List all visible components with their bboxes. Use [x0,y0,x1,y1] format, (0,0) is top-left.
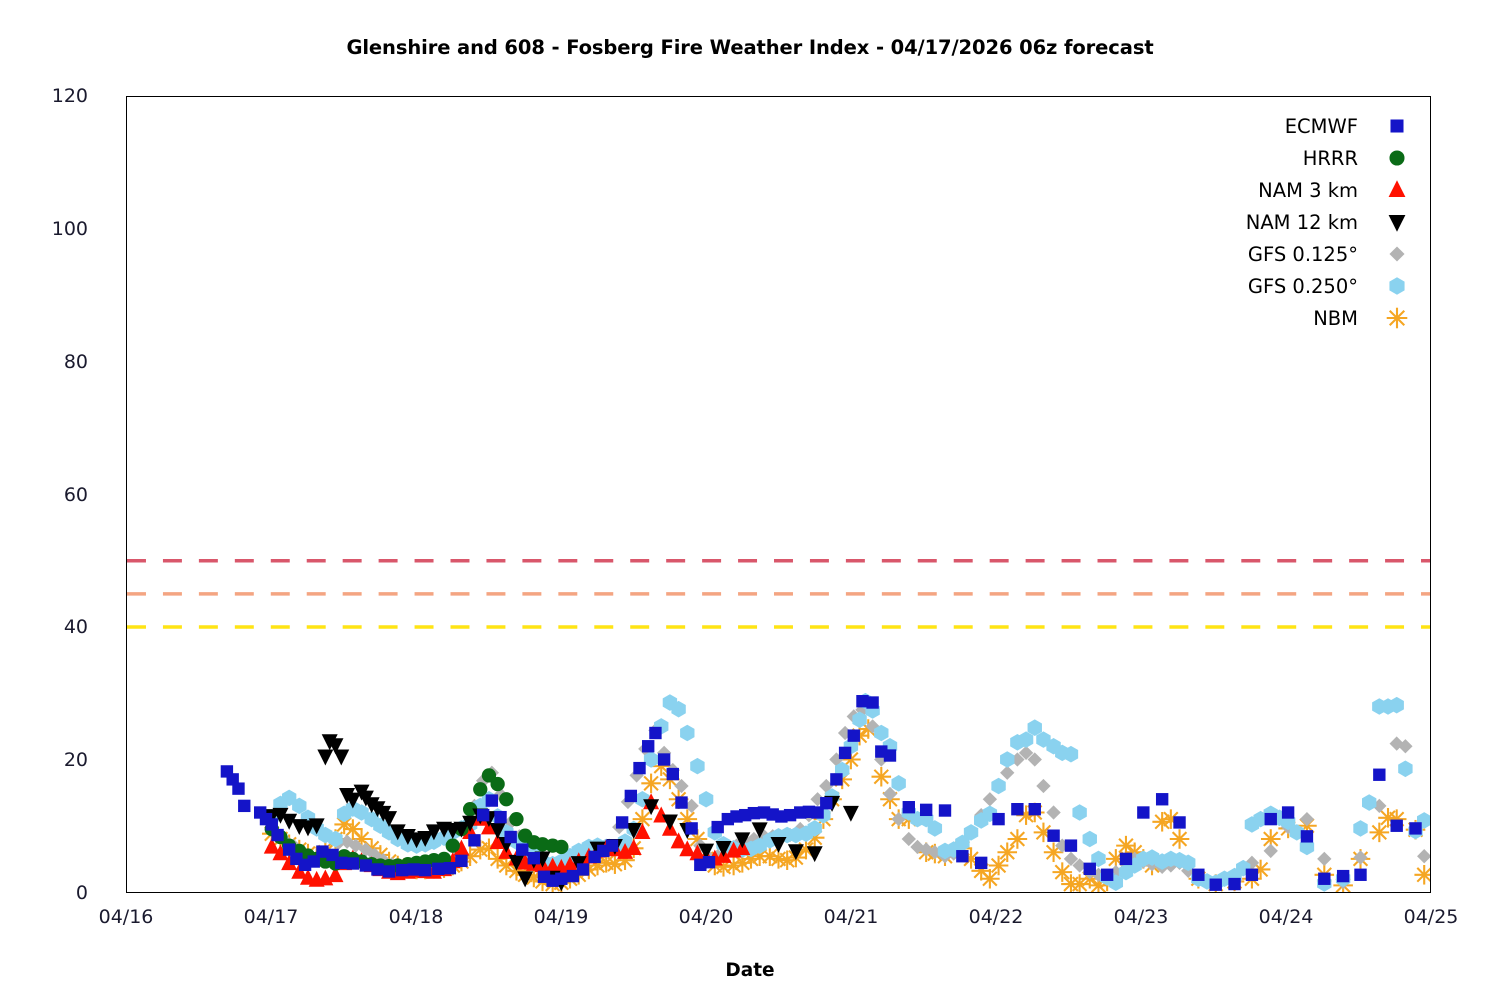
data-point-square [1391,820,1403,832]
y-tick-label: 100 [8,218,88,240]
data-point-square [975,857,987,869]
data-point-square [455,855,467,867]
data-point-hexagon [680,725,694,742]
x-tick-label: 04/17 [244,906,299,928]
x-tick-label: 04/25 [1404,906,1459,928]
data-point-square [1301,830,1313,842]
data-point-square [444,862,456,874]
data-point-diamond [983,792,997,806]
data-point-asterisk [989,856,1009,876]
data-point-square [1137,806,1149,818]
data-point-square [486,794,498,806]
legend-marker-asterisk-icon [1384,306,1410,330]
data-point-square [956,850,968,862]
data-point-circle [499,792,513,806]
data-point-asterisk [872,767,892,787]
data-point-square [1156,793,1168,805]
y-tick-label: 20 [8,749,88,771]
data-point-hexagon [690,758,704,775]
data-point-circle [554,840,568,854]
legend-item-nam-12-km[interactable]: NAM 12 km [1130,206,1410,238]
legend-marker-triangle-down-icon [1384,210,1410,234]
data-point-square [848,729,860,741]
data-point-asterisk [1052,862,1072,882]
legend-marker-hexagon-icon [1384,274,1410,298]
data-point-diamond [1036,779,1050,793]
data-point-square [642,740,654,752]
y-tick-label: 60 [8,484,88,506]
y-tick-label: 40 [8,616,88,638]
legend-label: NAM 12 km [1246,211,1384,234]
data-point-square [419,864,431,876]
data-point-square [1210,879,1222,891]
data-point-square [1246,869,1258,881]
legend-label: HRRR [1303,147,1384,170]
data-point-square [939,804,951,816]
data-point-square [432,863,444,875]
legend-label: ECMWF [1285,115,1384,138]
data-point-square [1228,878,1240,890]
data-point-circle [446,838,460,852]
x-tick-label: 04/20 [679,906,734,928]
data-point-square [347,857,359,869]
data-point-square [839,747,851,759]
data-point-square [266,818,278,830]
data-point-hexagon [991,778,1005,795]
data-point-square [633,762,645,774]
series-legend: ECMWFHRRRNAM 3 kmNAM 12 kmGFS 0.125°GFS … [1130,110,1410,334]
data-point-square [1120,853,1132,865]
data-point-diamond [1389,246,1404,261]
data-point-square [1084,863,1096,875]
data-point-square [1065,839,1077,851]
data-point-square [658,753,670,765]
data-point-asterisk [1414,865,1430,885]
legend-label: NBM [1313,307,1384,330]
data-point-square [232,782,244,794]
x-tick-label: 04/23 [1114,906,1169,928]
legend-item-hrrr[interactable]: HRRR [1130,142,1410,174]
data-point-square [667,768,679,780]
legend-marker-triangle-up-icon [1384,178,1410,202]
data-point-triangle-down [1389,215,1406,232]
data-point-triangle-down [843,806,859,822]
data-point-hexagon [1083,831,1097,848]
legend-label: GFS 0.250° [1248,275,1384,298]
data-point-square [494,811,506,823]
data-point-square [238,800,250,812]
data-point-square [1318,873,1330,885]
data-point-square [1373,769,1385,781]
x-tick-label: 04/19 [534,906,589,928]
legend-label: GFS 0.125° [1248,243,1384,266]
data-point-triangle-down [333,750,349,766]
data-point-asterisk [1008,829,1028,849]
data-point-hexagon [1353,820,1367,837]
data-point-diamond [674,779,688,793]
data-point-square [271,829,283,841]
data-point-square [477,809,489,821]
data-point-asterisk [1170,829,1190,849]
data-point-square [396,864,408,876]
data-point-square [528,852,540,864]
data-point-square [866,696,878,708]
x-tick-label: 04/22 [969,906,1024,928]
data-point-square [1265,813,1277,825]
data-point-square [371,863,383,875]
data-point-asterisk [1370,823,1390,843]
data-point-diamond [1417,849,1430,863]
data-point-square [884,749,896,761]
page-title: Glenshire and 608 - Fosberg Fire Weather… [0,36,1500,59]
fosberg-index-chart-figure: Glenshire and 608 - Fosberg Fire Weather… [0,0,1500,1000]
data-point-circle [490,777,504,791]
data-point-square [1192,869,1204,881]
y-tick-label: 120 [8,85,88,107]
data-point-square [903,801,915,813]
data-point-square [555,873,567,885]
data-point-square [1390,119,1403,132]
data-point-diamond [1264,844,1278,858]
data-point-square [685,822,697,834]
data-point-asterisk [641,774,661,794]
y-tick-label: 0 [8,882,88,904]
data-point-square [1047,830,1059,842]
data-point-square [468,834,480,846]
data-point-circle [473,782,487,796]
legend-item-gfs-0-250[interactable]: GFS 0.250° [1130,270,1410,302]
x-axis-label: Date [0,960,1500,981]
data-point-square [516,843,528,855]
legend-item-nam-3-km[interactable]: NAM 3 km [1130,174,1410,206]
data-point-square [504,831,516,843]
data-point-diamond [1046,805,1060,819]
data-point-hexagon [699,791,713,808]
data-point-square [625,790,637,802]
data-point-square [703,856,715,868]
y-tick-label: 80 [8,351,88,373]
x-tick-label: 04/24 [1259,906,1314,928]
data-point-square [1282,806,1294,818]
data-point-square [606,839,618,851]
data-point-square [1011,803,1023,815]
data-point-diamond [1300,812,1314,826]
data-point-square [616,816,628,828]
data-point-square [1101,869,1113,881]
data-point-hexagon [891,775,905,792]
data-point-square [407,863,419,875]
data-point-square [820,797,832,809]
data-point-square [1173,816,1185,828]
data-point-circle [509,812,523,826]
data-point-square [1354,869,1366,881]
data-point-triangle-down [807,846,823,862]
data-point-hexagon [1362,794,1376,811]
data-point-square [1029,803,1041,815]
data-point-square [992,813,1004,825]
data-point-square [649,727,661,739]
data-point-hexagon [1389,277,1404,294]
legend-item-nbm[interactable]: NBM [1130,302,1410,334]
data-point-asterisk [1387,308,1408,329]
data-point-square [920,804,932,816]
data-point-hexagon [1000,751,1014,768]
legend-marker-diamond-icon [1384,242,1410,266]
legend-marker-circle-icon [1384,146,1410,170]
data-point-square [335,857,347,869]
data-point-square [675,796,687,808]
data-point-square [830,773,842,785]
data-point-diamond [1317,852,1331,866]
legend-label: NAM 3 km [1258,179,1384,202]
x-tick-label: 04/21 [824,906,879,928]
data-point-square [577,863,589,875]
data-point-square [1409,822,1421,834]
data-point-asterisk [997,842,1017,862]
data-point-triangle-down [317,750,333,766]
data-point-hexagon [1398,760,1412,777]
data-point-triangle-up [1389,180,1406,197]
data-point-square [360,859,372,871]
data-point-square [383,865,395,877]
legend-item-ecmwf[interactable]: ECMWF [1130,110,1410,142]
x-tick-label: 04/16 [99,906,154,928]
legend-marker-square-icon [1384,114,1410,138]
legend-item-gfs-0-125[interactable]: GFS 0.125° [1130,238,1410,270]
data-point-hexagon [1072,804,1086,821]
data-point-circle [1389,150,1404,165]
data-point-square [1337,870,1349,882]
x-tick-label: 04/18 [389,906,444,928]
data-point-asterisk [980,869,1000,889]
